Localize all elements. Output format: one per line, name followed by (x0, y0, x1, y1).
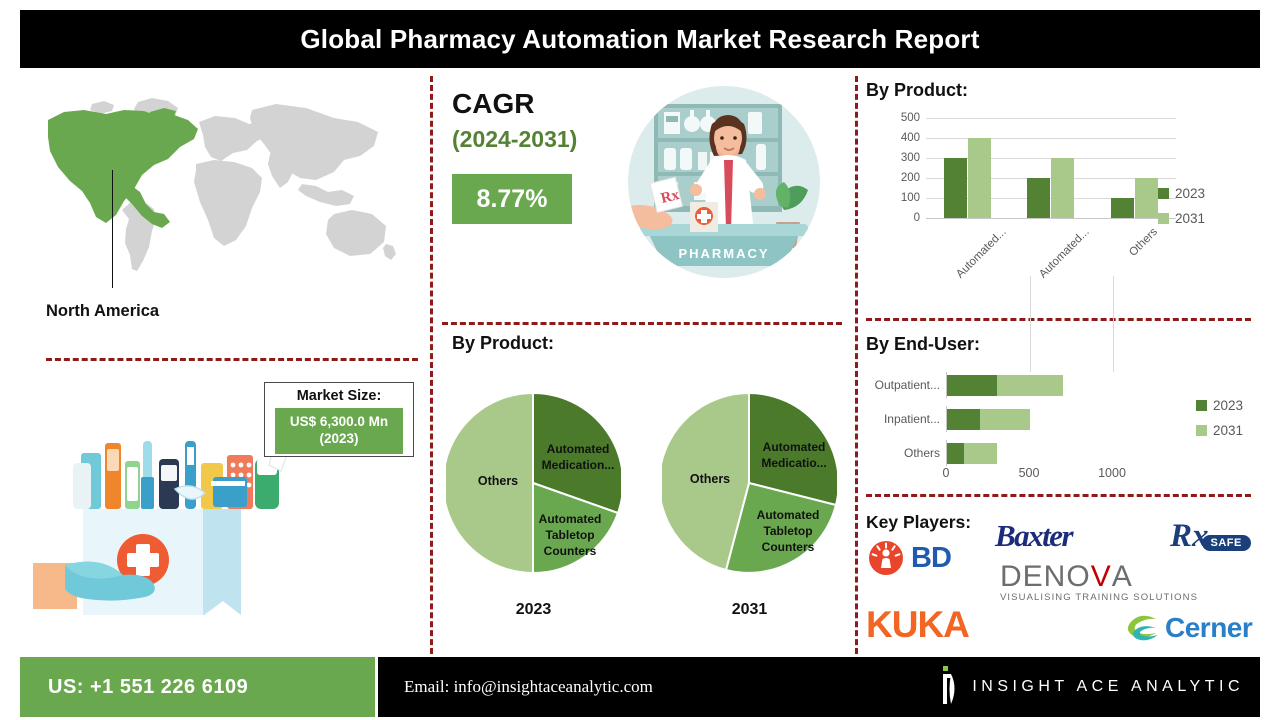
stacked-bar-chart-by-end-user: Outpatient... Inpatient... Others 0 (862, 370, 1152, 470)
hbar-track (946, 440, 1152, 466)
legend-swatch-2031 (1158, 213, 1169, 224)
legend-swatch-2023 (1158, 188, 1169, 199)
svg-text:Automated: Automated (757, 508, 820, 522)
svg-text:Automated: Automated (539, 512, 602, 526)
market-size-title: Market Size: (297, 388, 382, 404)
svg-text:Tabletop: Tabletop (545, 528, 594, 542)
end-user-legend: 2023 2031 (1196, 398, 1243, 448)
legend-label-2023: 2023 (1213, 398, 1243, 413)
pie-2031-year: 2031 (662, 601, 837, 619)
divider-horizontal-left (46, 358, 418, 361)
y-tick: 200 (886, 172, 920, 184)
pie-chart-2023: Others Automated Medication... Automated… (446, 372, 621, 619)
bar-2031 (1135, 178, 1158, 218)
legend-item-2023: 2023 (1196, 398, 1243, 413)
rxsafe-badge: SAFE (1202, 535, 1251, 551)
bd-wordmark: BD (911, 542, 951, 575)
cagr-years: (2024-2031) (452, 126, 577, 153)
x-tick-label: 0 (943, 466, 950, 480)
hbar-seg-2023 (947, 409, 980, 430)
bar-chart-x-labels: Automated... Automated... Others (926, 222, 1176, 240)
legend-label-2023: 2023 (1175, 186, 1205, 201)
map-leader-line (112, 170, 113, 288)
bd-sunburst-icon (868, 540, 904, 576)
x-tick-label: Automated... (1037, 226, 1092, 281)
bar-2031 (1051, 158, 1074, 218)
page-title: Global Pharmacy Automation Market Resear… (300, 24, 979, 55)
footer-info-bar: Email: info@insightaceanalytic.com INSIG… (378, 657, 1260, 717)
svg-text:Counters: Counters (762, 540, 815, 554)
hbar-category-label: Inpatient... (862, 412, 946, 426)
cerner-swoosh-icon (1126, 613, 1160, 643)
market-size-value: US$ 6,300.0 Mn (2023) (275, 408, 403, 454)
infographic-page: Global Pharmacy Automation Market Resear… (0, 0, 1280, 720)
pie-2023-year: 2023 (446, 601, 621, 619)
hbar-seg-2023 (947, 443, 964, 464)
x-tick-label: Automated... (954, 226, 1009, 281)
legend-label-2031: 2031 (1213, 423, 1243, 438)
bar-chart-plot-area (926, 118, 1176, 219)
pie-2031-label-others: Others (690, 472, 730, 486)
bar-2023 (1111, 198, 1134, 218)
header-bar: Global Pharmacy Automation Market Resear… (20, 10, 1260, 68)
cagr-value: 8.77% (477, 185, 548, 214)
logo-rxsafe: Rx SAFE (1170, 518, 1251, 555)
market-size-box: Market Size: US$ 6,300.0 Mn (2023) (264, 382, 414, 457)
denova-tagline: VISUALISING TRAINING SOLUTIONS (1000, 592, 1198, 603)
divider-vertical-left (430, 76, 433, 654)
hbar-row: Outpatient... (862, 370, 1152, 400)
legend-swatch-2031 (1196, 425, 1207, 436)
hbar-seg-2031 (980, 409, 1030, 430)
x-tick-label: Others (1127, 226, 1160, 259)
rxsafe-wordmark: Rx (1170, 518, 1209, 555)
legend-item-2031: 2031 (1158, 211, 1205, 226)
section-title-by-product-pie: By Product: (452, 333, 554, 354)
brand-logo: INSIGHT ACE ANALYTIC (934, 657, 1244, 717)
legend-label-2031: 2031 (1175, 211, 1205, 226)
y-tick: 300 (886, 152, 920, 164)
footer-phone: US: +1 551 226 6109 (48, 676, 248, 699)
legend-item-2023: 2023 (1158, 186, 1205, 201)
hbar-track (946, 372, 1152, 398)
cerner-wordmark: Cerner (1165, 612, 1252, 644)
baxter-wordmark: Baxter (995, 518, 1072, 553)
bar-2023 (944, 158, 967, 218)
x-tick-label: 500 (1019, 466, 1040, 480)
world-map (34, 92, 419, 282)
region-label: North America (46, 302, 159, 321)
cagr-label: CAGR (452, 88, 534, 120)
gridline (1113, 276, 1114, 372)
gridline (1030, 276, 1031, 372)
denova-wordmark: DENO (1000, 560, 1091, 594)
bar-chart-y-axis: 500 400 300 200 100 0 (886, 118, 922, 218)
legend-swatch-2023 (1196, 400, 1207, 411)
cagr-value-box: 8.77% (452, 174, 572, 224)
pharmacy-sign-text: PHARMACY (678, 246, 769, 261)
hbar-row: Inpatient... (862, 404, 1152, 434)
bar-group (926, 118, 1009, 218)
bar-chart-by-product: 500 400 300 200 100 0 (886, 118, 1176, 233)
hbar-row: Others (862, 438, 1152, 468)
hbar-track (946, 406, 1152, 432)
logo-cerner: Cerner (1126, 612, 1252, 644)
hbar-category-label: Outpatient... (862, 378, 946, 392)
divider-horizontal-middle (442, 322, 842, 325)
section-title-by-end-user: By End-User: (866, 334, 980, 355)
footer-phone-bar: US: +1 551 226 6109 (20, 657, 375, 717)
insightace-mark-icon (934, 666, 960, 708)
pharmacy-bag-illustration (25, 415, 290, 645)
y-tick: 100 (886, 192, 920, 204)
logo-denova: DENOVA VISUALISING TRAINING SOLUTIONS (1000, 560, 1198, 603)
logo-kuka: KUKA (866, 604, 969, 646)
bar-chart-legend: 2023 2031 (1158, 186, 1205, 236)
bar-2023 (1027, 178, 1050, 218)
logo-baxter: Baxter (995, 518, 1072, 554)
pie-chart-2031: Others Automated Medicatio... Automated … (662, 372, 837, 619)
svg-text:Medication...: Medication... (542, 458, 615, 472)
section-title-key-players: Key Players: (866, 512, 971, 533)
hbar-seg-2031 (997, 375, 1063, 396)
logo-bd: BD (868, 540, 951, 576)
divider-vertical-right (855, 76, 858, 654)
y-tick: 400 (886, 132, 920, 144)
svg-text:Tabletop: Tabletop (763, 524, 812, 538)
hbar-seg-2023 (947, 375, 997, 396)
y-tick: 500 (886, 112, 920, 124)
section-title-by-product-bar: By Product: (866, 80, 968, 101)
brand-name: INSIGHT ACE ANALYTIC (972, 678, 1244, 696)
divider-horizontal-right-bottom (866, 494, 1251, 497)
bar-group (1009, 118, 1092, 218)
x-tick-label: 1000 (1098, 466, 1126, 480)
hbar-category-label: Others (862, 446, 946, 460)
svg-text:Automated: Automated (763, 440, 826, 454)
legend-item-2031: 2031 (1196, 423, 1243, 438)
hbar-seg-2031 (964, 443, 997, 464)
svg-text:Medicatio...: Medicatio... (761, 456, 826, 470)
y-tick: 0 (886, 212, 920, 224)
bar-2031 (968, 138, 991, 218)
hbar-x-axis: 0 500 1000 (946, 466, 1152, 482)
svg-text:Automated: Automated (547, 442, 610, 456)
divider-horizontal-right-top (866, 318, 1251, 321)
svg-text:Counters: Counters (544, 544, 597, 558)
pie-2023-label-others: Others (478, 474, 518, 488)
footer-email: Email: info@insightaceanalytic.com (404, 677, 653, 697)
pharmacist-illustration: PHARMACY Rx (628, 82, 820, 282)
kuka-wordmark: KUKA (866, 604, 969, 645)
